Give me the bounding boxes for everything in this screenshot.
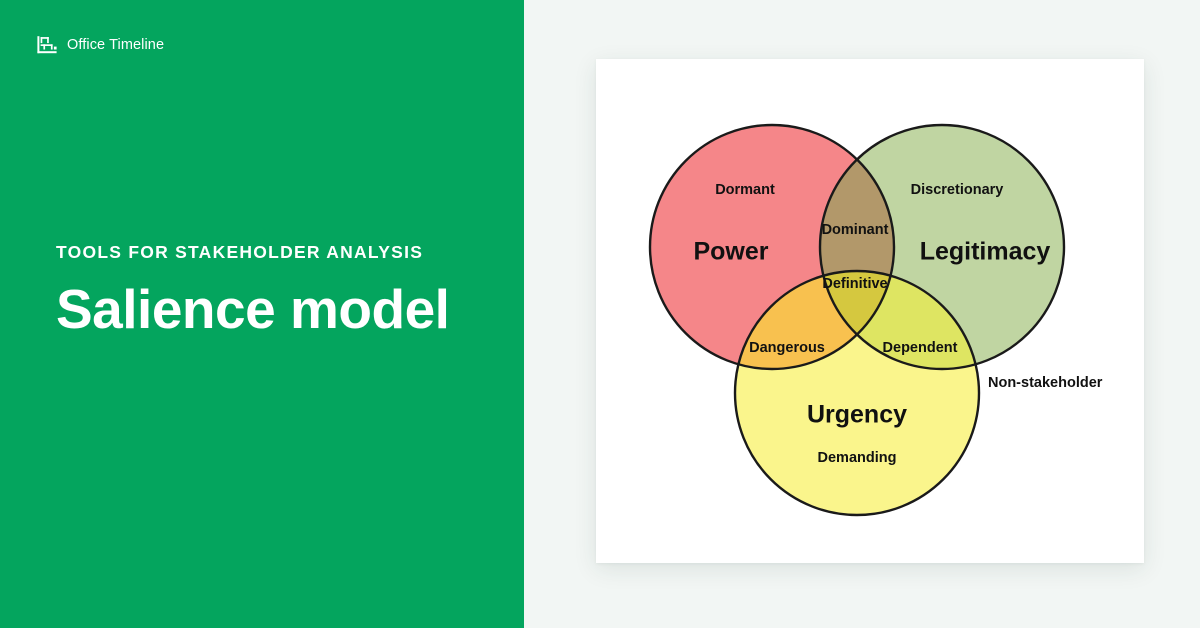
salience-model-venn-diagram: Power Legitimacy Urgency Dormant Discret… [596,59,1144,563]
venn-set-label-urgency: Urgency [807,401,907,429]
venn-region-label-dominant: Dominant [822,222,889,238]
venn-region-label-non-stakeholder: Non-stakeholder [988,375,1103,391]
venn-set-label-legitimacy: Legitimacy [920,238,1051,266]
venn-region-label-discretionary: Discretionary [911,182,1004,198]
page-title: Salience model [56,281,496,339]
venn-region-label-dangerous: Dangerous [749,340,825,356]
venn-region-label-definitive: Definitive [822,276,887,292]
left-green-panel: Office Timeline TOOLS FOR STAKEHOLDER AN… [0,0,524,628]
venn-region-label-dependent: Dependent [883,340,958,356]
timeline-chart-icon [36,34,58,56]
venn-set-label-power: Power [693,238,768,266]
brand-lockup: Office Timeline [36,34,164,56]
headline-block: TOOLS FOR STAKEHOLDER ANALYSIS Salience … [56,242,496,339]
venn-region-label-demanding: Demanding [818,450,897,466]
brand-name: Office Timeline [67,37,164,53]
venn-region-label-dormant: Dormant [715,182,775,198]
eyebrow-text: TOOLS FOR STAKEHOLDER ANALYSIS [56,242,496,263]
venn-diagram-card: Power Legitimacy Urgency Dormant Discret… [596,59,1144,563]
